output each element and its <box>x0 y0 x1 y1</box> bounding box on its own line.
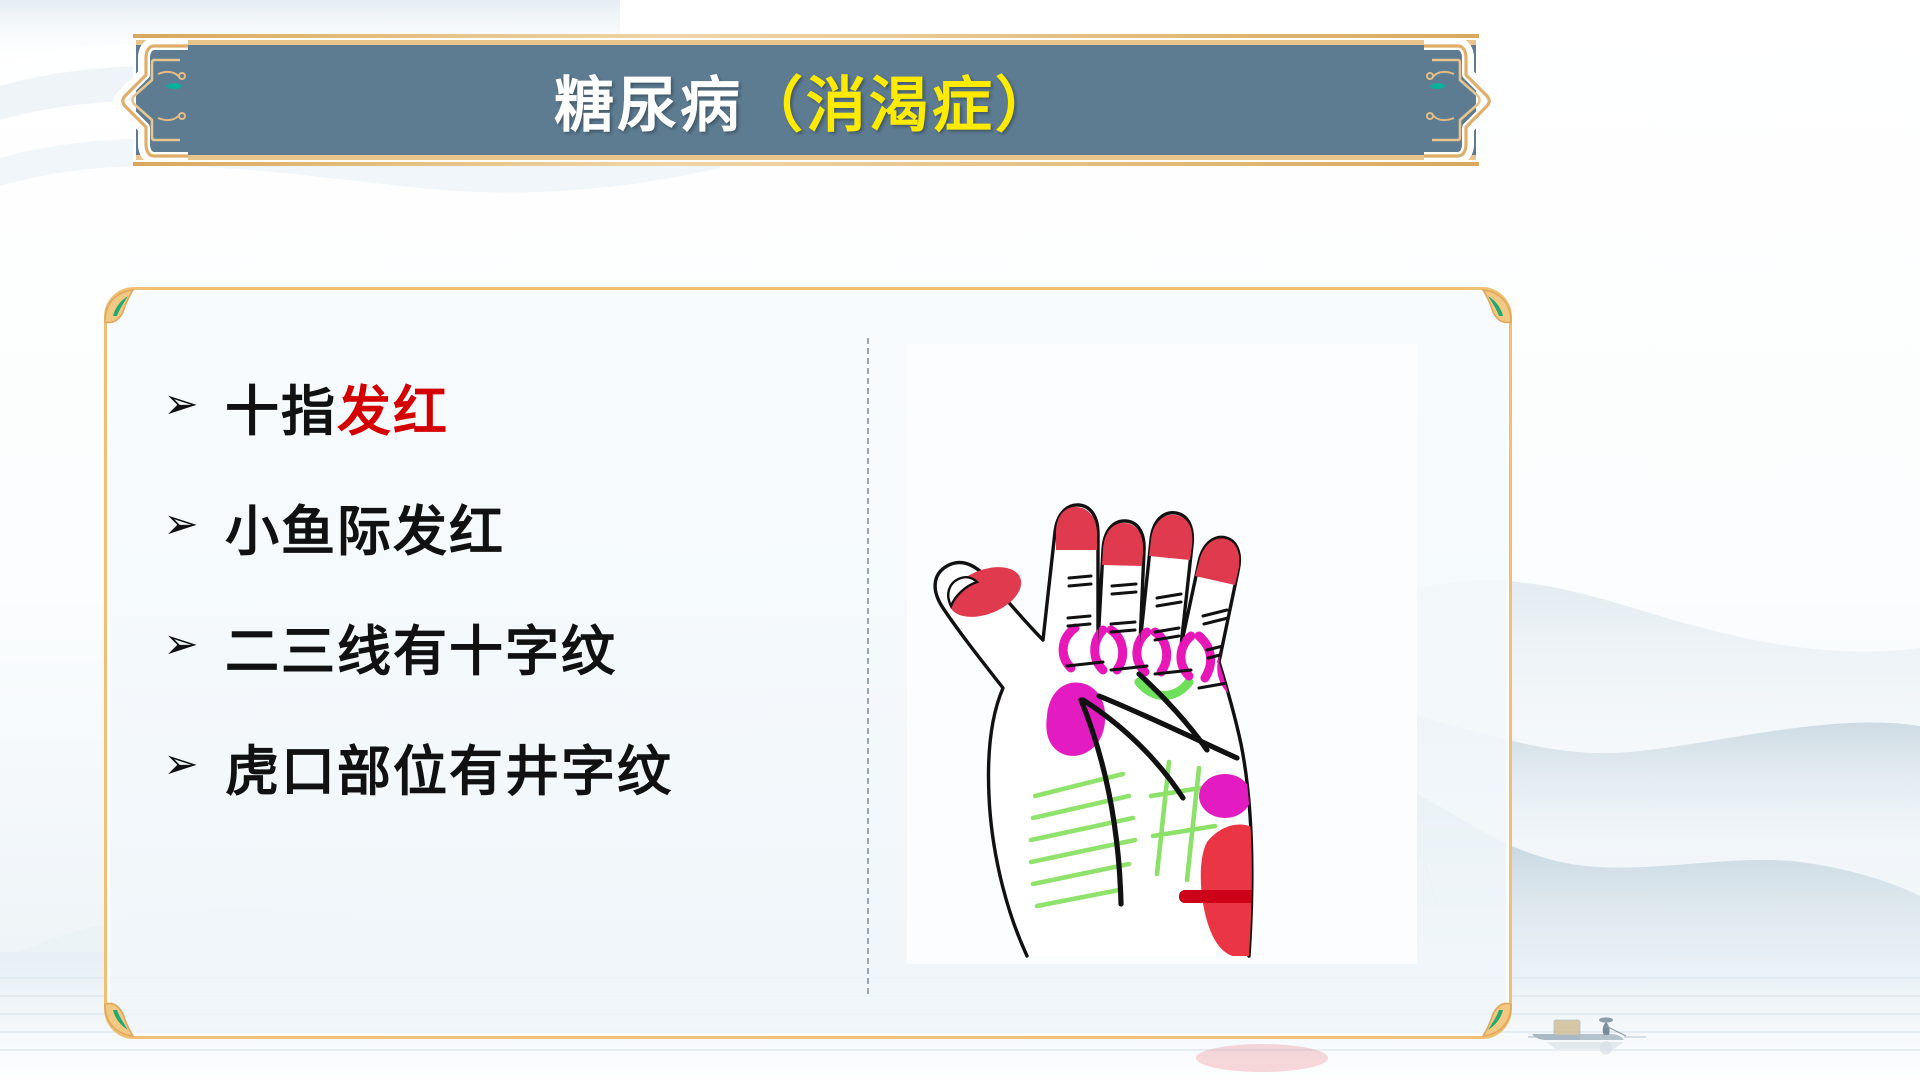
arrow-bullet-icon: ➢ <box>159 623 203 665</box>
list-item-label: 十指发红 <box>225 367 449 446</box>
slide-title: 糖尿病（消渴症） <box>96 34 1516 166</box>
slide-title-main: 糖尿病 <box>554 57 743 144</box>
list-item-label: 二三线有十字纹 <box>225 607 617 686</box>
list-item-text-plain: 二三线有十字纹 <box>225 622 617 682</box>
title-banner: 糖尿病（消渴症） <box>96 34 1516 166</box>
slide-canvas: 糖尿病（消渴症） ➢ 十指发红 <box>0 0 1920 1080</box>
arrow-bullet-icon: ➢ <box>159 503 203 545</box>
card-corner-leaf-bottom-right-icon <box>1469 1000 1515 1040</box>
card-corner-leaf-top-right-icon <box>1469 286 1515 326</box>
banner-ornament-left-icon <box>96 40 192 160</box>
banner-ornament-right-icon <box>1420 40 1516 160</box>
ink-boat-decoration-icon <box>1528 1004 1668 1058</box>
list-item-text-plain: 小鱼际发红 <box>225 502 505 562</box>
card-corner-leaf-top-left-icon <box>101 286 147 326</box>
list-item: ➢ 十指发红 <box>159 370 819 442</box>
symptom-list: ➢ 十指发红 ➢ 小鱼际发红 ➢ 二三线有十字纹 ➢ 虎口部位有井字纹 <box>159 370 819 802</box>
magenta-oval-mark <box>1199 774 1251 818</box>
vertical-dashed-divider <box>867 338 869 994</box>
list-item-text-highlight: 发红 <box>337 382 449 442</box>
list-item-label: 虎口部位有井字纹 <box>225 727 673 806</box>
list-item-text-plain: 虎口部位有井字纹 <box>225 742 673 802</box>
list-item: ➢ 二三线有十字纹 <box>159 610 819 682</box>
palm-illustration <box>907 344 1417 964</box>
palm-diagnosis-diagram <box>907 344 1417 964</box>
list-item: ➢ 小鱼际发红 <box>159 490 819 562</box>
slide-title-paren: （消渴症） <box>743 57 1058 144</box>
card-corner-leaf-bottom-left-icon <box>101 1000 147 1040</box>
arrow-bullet-icon: ➢ <box>159 743 203 785</box>
list-item-text-plain: 十指 <box>225 382 337 442</box>
list-item-label: 小鱼际发红 <box>225 487 505 566</box>
content-card: ➢ 十指发红 ➢ 小鱼际发红 ➢ 二三线有十字纹 ➢ 虎口部位有井字纹 <box>104 287 1512 1039</box>
arrow-bullet-icon: ➢ <box>159 383 203 425</box>
list-item: ➢ 虎口部位有井字纹 <box>159 730 819 802</box>
